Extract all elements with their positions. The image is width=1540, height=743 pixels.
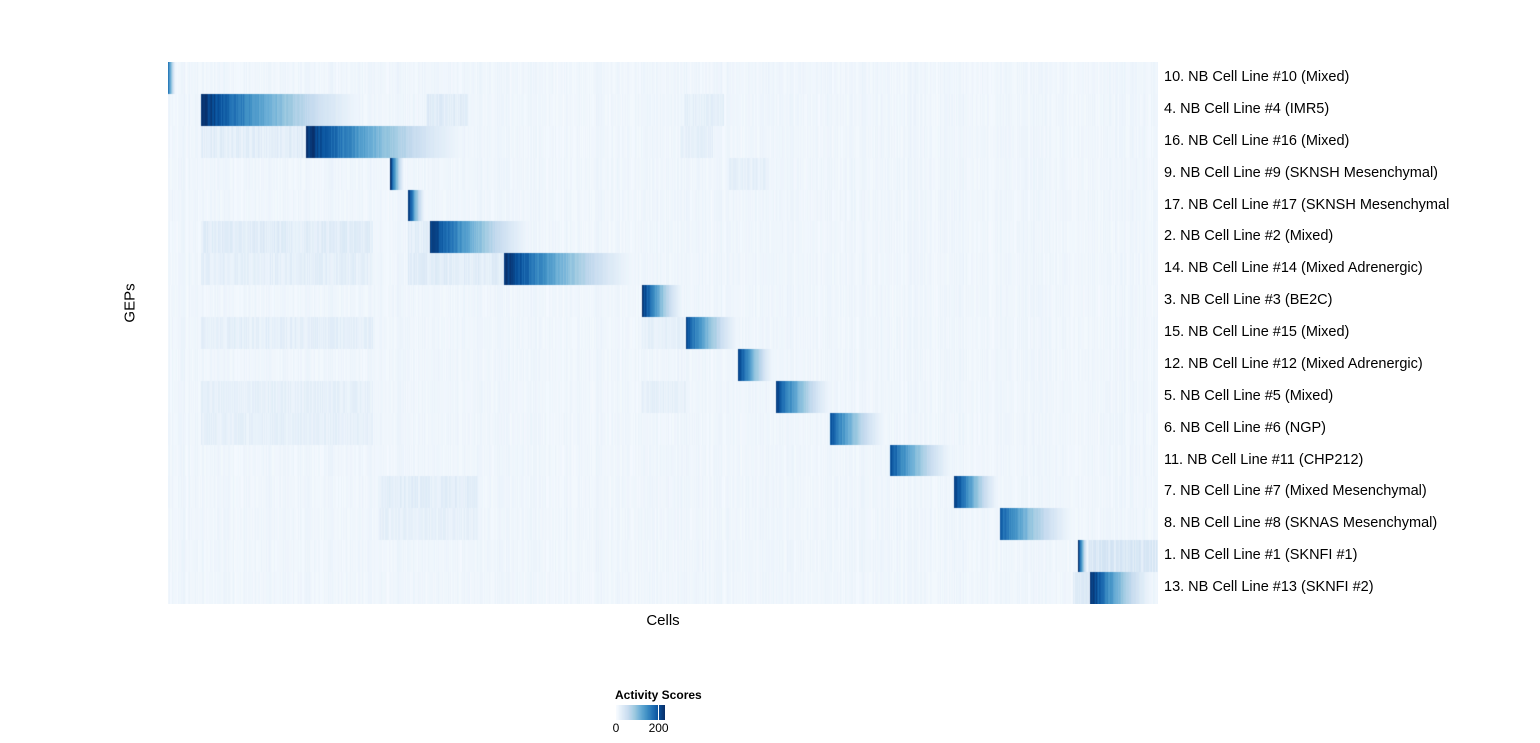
x-axis-title: Cells [168,612,1158,629]
colorbar-title: Activity Scores [615,688,702,702]
colorbar-tick-label: 0 [613,721,620,735]
row-label: 17. NB Cell Line #17 (SKNSH Mesenchymal [1164,190,1449,222]
heatmap-image[interactable] [168,62,1158,604]
row-label: 3. NB Cell Line #3 (BE2C) [1164,285,1332,317]
row-label: 10. NB Cell Line #10 (Mixed) [1164,62,1349,94]
row-label: 12. NB Cell Line #12 (Mixed Adrenergic) [1164,349,1423,381]
heatmap-plot-area[interactable] [168,62,1158,604]
row-label: 7. NB Cell Line #7 (Mixed Mesenchymal) [1164,476,1427,508]
colorbar: Activity Scores 0200 [616,688,816,743]
y-axis-title: GEPs [122,243,139,363]
row-label: 14. NB Cell Line #14 (Mixed Adrenergic) [1164,253,1423,285]
row-label: 5. NB Cell Line #5 (Mixed) [1164,381,1333,413]
row-label: 13. NB Cell Line #13 (SKNFI #2) [1164,572,1374,604]
row-label: 16. NB Cell Line #16 (Mixed) [1164,126,1349,158]
row-label: 8. NB Cell Line #8 (SKNAS Mesenchymal) [1164,508,1437,540]
row-label-list: 10. NB Cell Line #10 (Mixed)4. NB Cell L… [1164,62,1540,604]
colorbar-tick [658,705,660,720]
heatmap-figure: GEPs Cells 10. NB Cell Line #10 (Mixed)4… [0,0,1540,743]
colorbar-tick-label: 200 [649,721,669,735]
row-label: 1. NB Cell Line #1 (SKNFI #1) [1164,540,1357,572]
row-label: 15. NB Cell Line #15 (Mixed) [1164,317,1349,349]
row-label: 9. NB Cell Line #9 (SKNSH Mesenchymal) [1164,158,1438,190]
row-label: 11. NB Cell Line #11 (CHP212) [1164,445,1363,477]
row-label: 6. NB Cell Line #6 (NGP) [1164,413,1326,445]
row-label: 4. NB Cell Line #4 (IMR5) [1164,94,1329,126]
row-label: 2. NB Cell Line #2 (Mixed) [1164,221,1333,253]
